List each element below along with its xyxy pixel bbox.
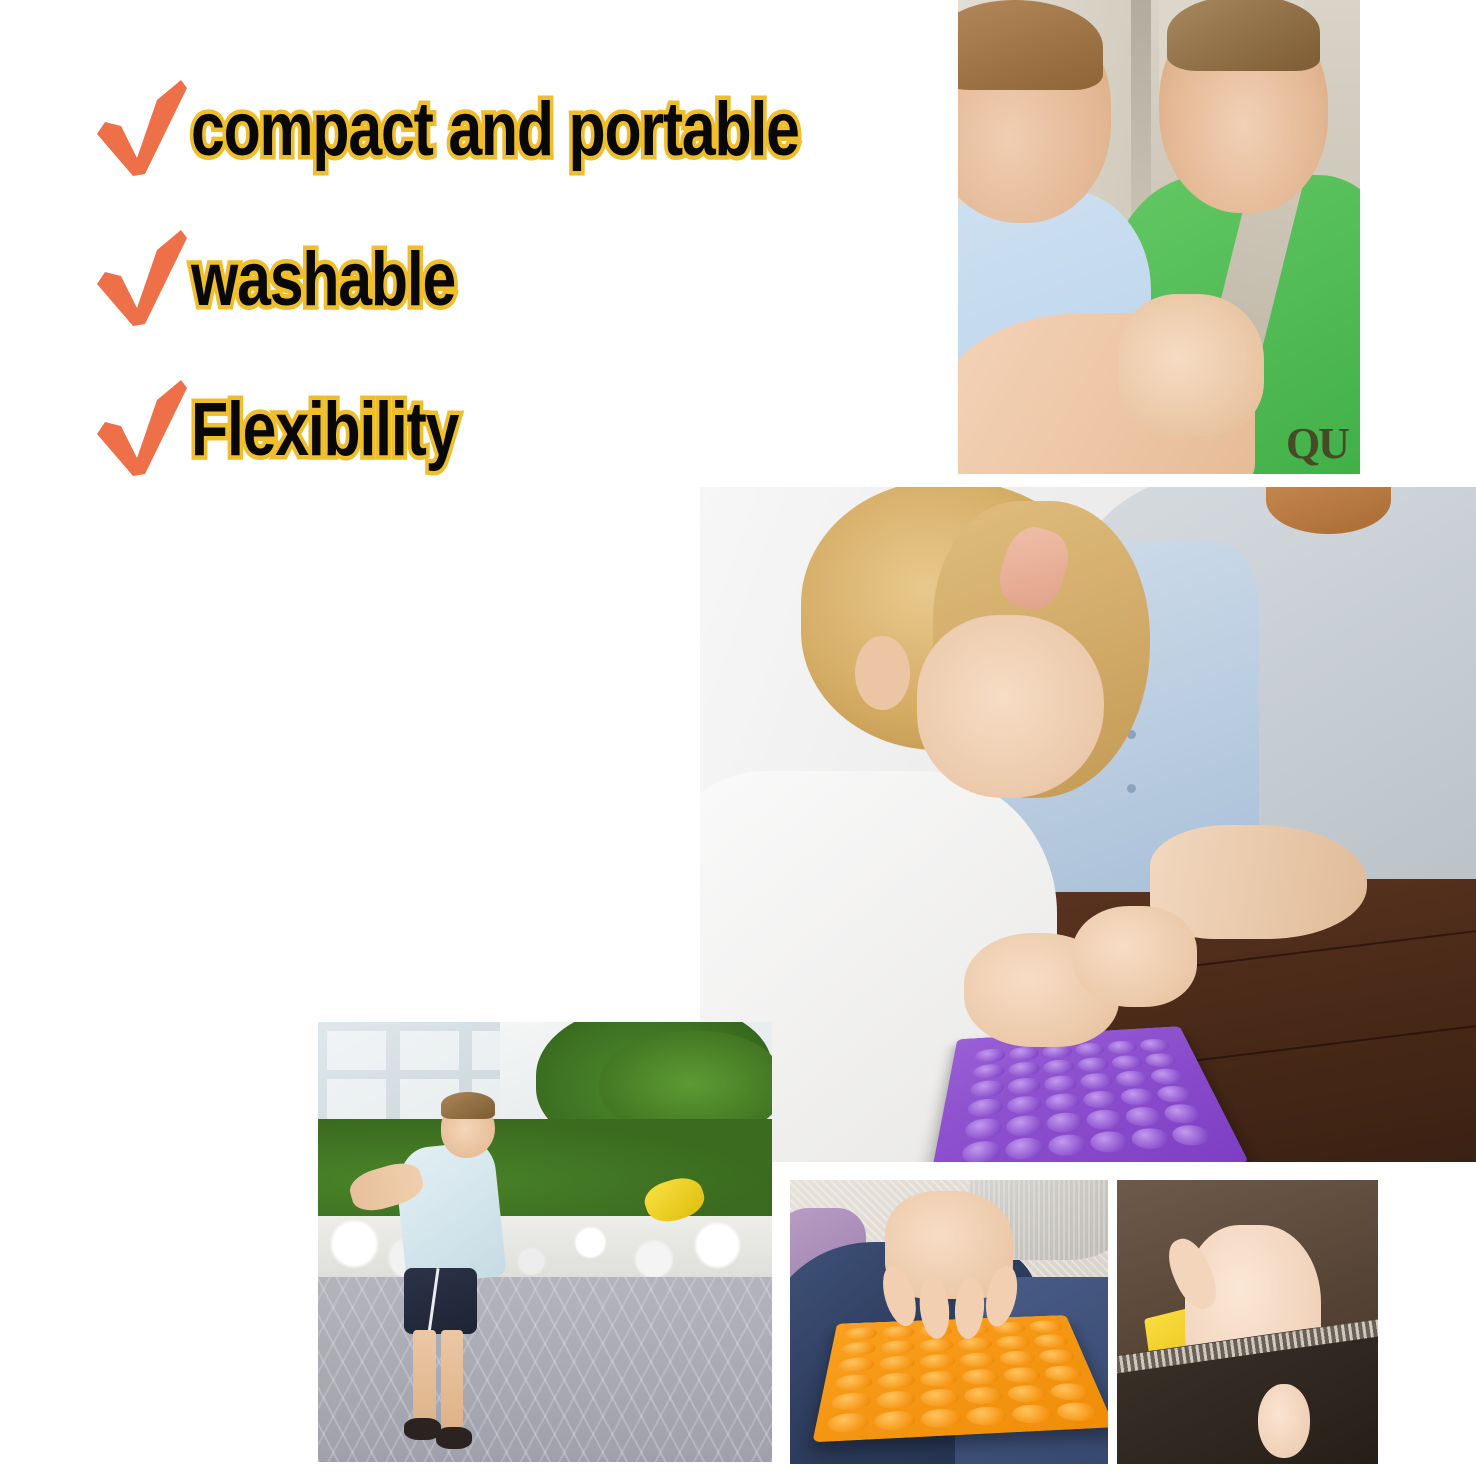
- feature-item-compact-and-portable: compact and portable: [95, 55, 915, 205]
- checkmark-icon: [95, 78, 191, 182]
- checkmark-icon: [95, 378, 191, 482]
- feature-label: washable: [191, 244, 455, 316]
- photo-toy-into-bag: [1117, 1180, 1378, 1464]
- feature-label: Flexibility: [191, 394, 458, 466]
- feature-item-washable: washable: [95, 205, 915, 355]
- photo-girl-with-purple-popit: [700, 487, 1476, 1162]
- photo-orange-popit-on-lap: [790, 1180, 1108, 1464]
- photo-boys-in-car: QU: [958, 0, 1360, 474]
- photo-boy-outdoors: [318, 1022, 772, 1462]
- feature-list: compact and portable washable Flexibilit…: [95, 55, 915, 505]
- checkmark-icon: [95, 228, 191, 332]
- feature-item-flexibility: Flexibility: [95, 355, 915, 505]
- feature-label: compact and portable: [191, 94, 799, 166]
- watermark-text: QU: [1286, 418, 1348, 469]
- product-feature-collage: compact and portable washable Flexibilit…: [0, 0, 1476, 1476]
